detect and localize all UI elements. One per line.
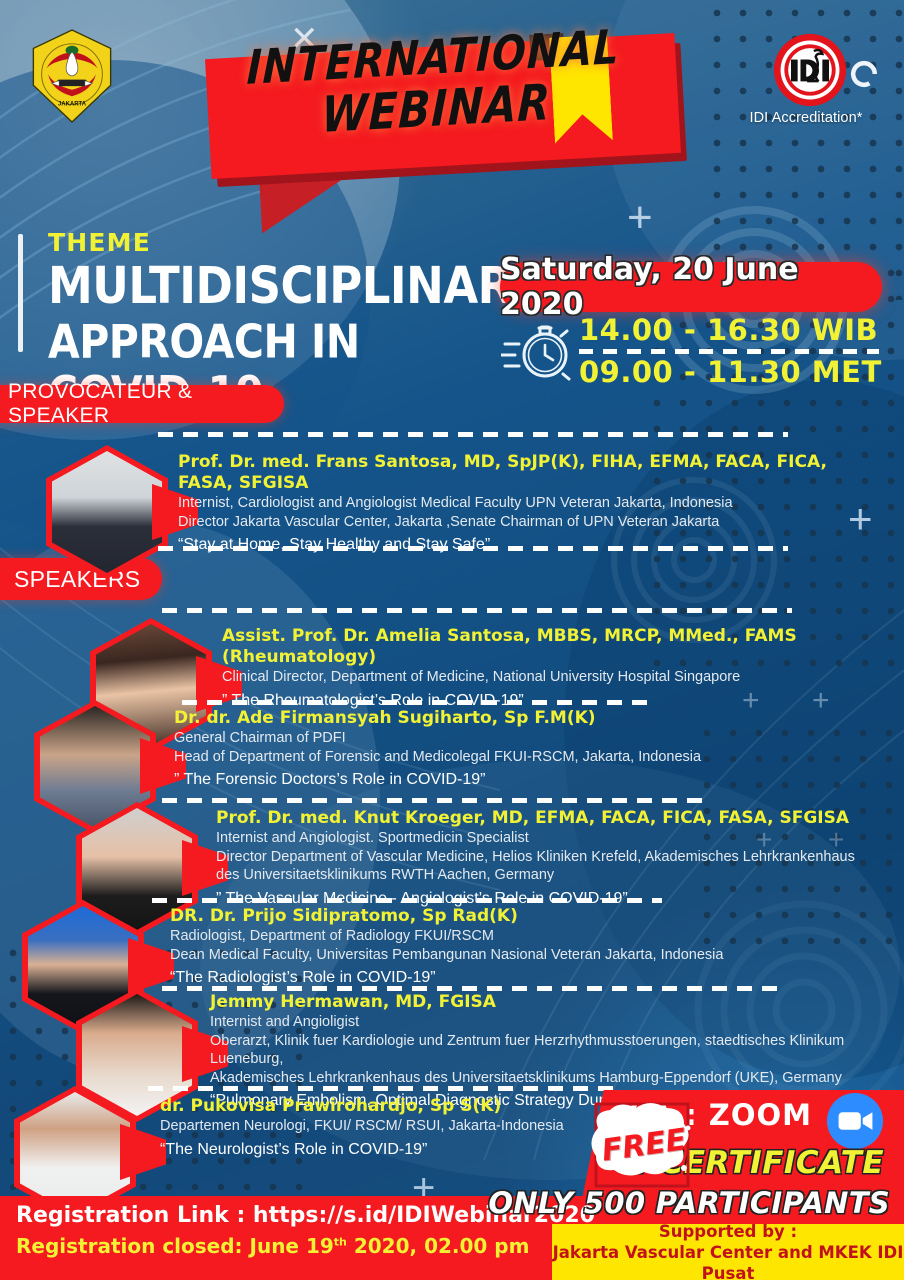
speaker-sub1: Departemen Neurologi, FKUI/ RSCM/ RSUI, … <box>160 1117 620 1136</box>
zoom-camera-icon <box>826 1092 884 1150</box>
speaker-name: dr. Pukovisa Prawirohardjo, Sp S(K) <box>160 1096 620 1117</box>
speaker-name: Prof. Dr. med. Knut Kroeger, MD, EFMA, F… <box>216 808 896 829</box>
speaker-name: Assist. Prof. Dr. Amelia Santosa, MBBS, … <box>222 626 894 668</box>
speaker-sub2: Oberarzt, Klinik fuer Kardiologie und Ze… <box>210 1032 900 1069</box>
speaker-sub3: des Universitaetsklinikums RWTH Aachen, … <box>216 866 896 885</box>
speaker-sub1: General Chairman of PDFI <box>174 729 874 748</box>
svg-text:JAKARTA: JAKARTA <box>58 101 87 107</box>
speaker-sub2: Dean Medical Faculty, Universitas Pemban… <box>170 946 870 965</box>
speaker-name: DR. Dr. Prijo Sidipratomo, Sp Rad(K) <box>170 906 870 927</box>
registration-closed-sup: th <box>334 1235 347 1248</box>
provocateur-name: Prof. Dr. med. Frans Santosa, MD, SpJP(K… <box>178 452 878 494</box>
speaker-sub1: Radiologist, Department of Radiology FKU… <box>170 927 870 946</box>
webinar-poster: + + + + + + + + ✕ JAKARTA IDI Accreditat… <box>0 0 904 1280</box>
registration-closed-prefix: Registration closed: June 19 <box>16 1234 334 1258</box>
event-date-pill: Saturday, 20 June 2020 <box>500 262 882 312</box>
time-divider <box>579 349 879 354</box>
speaker-name: Jemmy Hermawan, MD, FGISA <box>210 992 900 1013</box>
registration-closed: Registration closed: June 19th 2020, 02.… <box>16 1234 529 1258</box>
speaker-info: DR. Dr. Prijo Sidipratomo, Sp Rad(K) Rad… <box>170 906 870 989</box>
provocateur-section-label: PROVOCATEUR & SPEAKER <box>0 385 284 423</box>
supported-by-box: Supported by : Jakarta Vascular Center a… <box>552 1224 904 1280</box>
loading-arc-icon <box>846 56 882 92</box>
speaker-info: dr. Pukovisa Prawirohardjo, Sp S(K) Depa… <box>160 1096 620 1161</box>
speaker-sub1: Clinical Director, Department of Medicin… <box>222 668 894 687</box>
provocateur-info: Prof. Dr. med. Frans Santosa, MD, SpJP(K… <box>178 452 878 556</box>
divider-dashed <box>152 898 662 903</box>
registration-closed-suffix: 2020, 02.00 pm <box>347 1234 530 1258</box>
divider-dashed <box>182 700 652 705</box>
title-banner: INTERNATIONAL WEBINAR <box>200 24 720 204</box>
upn-veteran-logo: JAKARTA <box>26 28 118 124</box>
divider-dashed <box>158 432 788 437</box>
divider-dashed <box>162 798 702 803</box>
divider-dashed <box>162 986 782 991</box>
speaker-sub3: Akademisches Lehrkrankenhaus des Univers… <box>210 1069 900 1088</box>
speaker-talk-title: “The Neurologist’s Role in COVID-19” <box>160 1139 620 1161</box>
idi-logo <box>772 32 848 108</box>
provocateur-sub1: Internist, Cardiologist and Angiologist … <box>178 494 878 513</box>
speaker-sub2: Head of Department of Forensic and Medic… <box>174 748 874 767</box>
speaker-sub2: Director Department of Vascular Medicine… <box>216 848 896 867</box>
speaker-info: Assist. Prof. Dr. Amelia Santosa, MBBS, … <box>222 626 894 712</box>
provocateur-talk-title: “Stay at Home, Stay Healthy and Stay Saf… <box>178 534 878 556</box>
speaker-name: Dr. dr. Ade Firmansyah Sugiharto, Sp F.M… <box>174 708 874 729</box>
divider-dashed <box>148 1086 618 1091</box>
theme-accent-bar <box>18 234 23 352</box>
speaker-info: Prof. Dr. med. Knut Kroeger, MD, EFMA, F… <box>216 808 896 910</box>
speaker-info: Dr. dr. Ade Firmansyah Sugiharto, Sp F.M… <box>174 708 874 791</box>
participants-limit-label: ONLY 500 PARTICIPANTS <box>488 1186 890 1220</box>
divider-dashed <box>158 546 788 551</box>
idi-accreditation-label: IDI Accreditation* <box>716 110 896 126</box>
time-wib: 14.00 - 16.30 WIB <box>579 314 882 347</box>
supporters-list: Jakarta Vascular Center and MKEK IDI Pus… <box>552 1242 904 1280</box>
theme-label: THEME <box>48 228 518 258</box>
stopwatch-icon <box>501 318 575 384</box>
event-date-text: Saturday, 20 June 2020 <box>500 252 882 322</box>
provocateur-sub2: Director Jakarta Vascular Center, Jakart… <box>178 513 878 532</box>
time-met: 09.00 - 11.30 MET <box>579 356 882 389</box>
supported-by-label: Supported by : <box>659 1221 797 1242</box>
theme-title-line1: MULTIDISCIPLINARY <box>48 258 518 314</box>
event-time-block: 14.00 - 16.30 WIB 09.00 - 11.30 MET <box>497 316 897 386</box>
speaker-sub1: Internist and Angioligist <box>210 1013 900 1032</box>
speaker-talk-title: ” The Forensic Doctors’s Role in COVID-1… <box>174 769 874 791</box>
divider-dashed <box>162 608 792 613</box>
speaker-sub1: Internist and Angiologist. Sportmedicin … <box>216 829 896 848</box>
